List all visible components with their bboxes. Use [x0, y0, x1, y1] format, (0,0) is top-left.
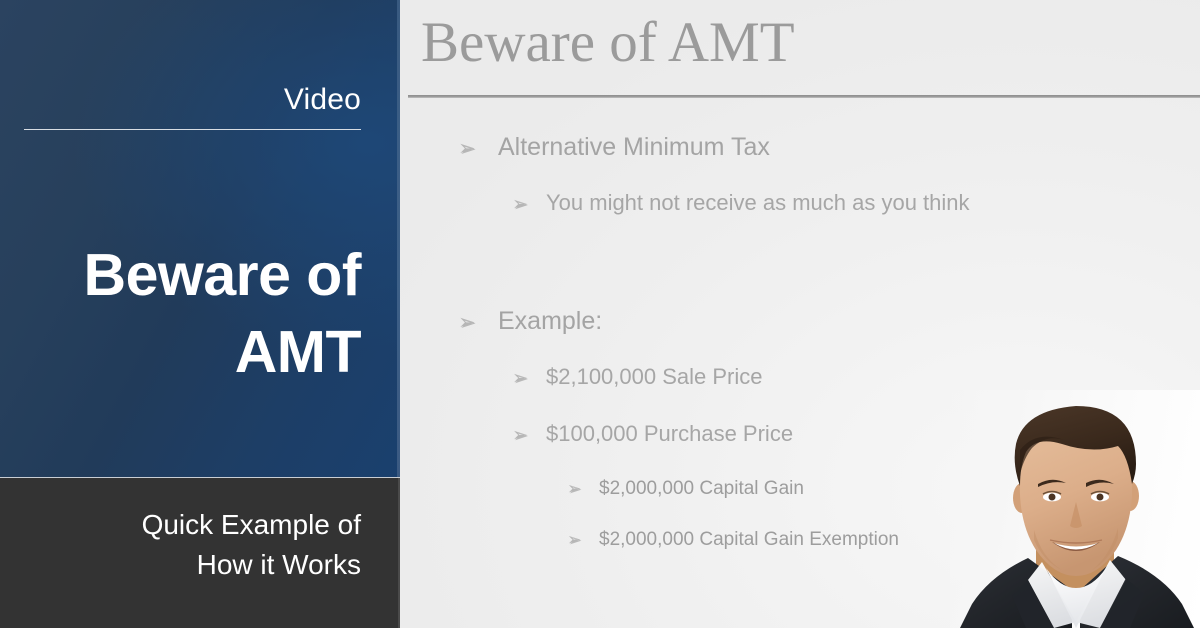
arrow-bullet-icon: ➢: [458, 310, 498, 335]
slide-heading-rule: [408, 95, 1200, 98]
pupil-left: [1049, 494, 1056, 501]
page-subtitle-line-1: Quick Example of: [31, 505, 361, 545]
bullet-item: ➢ Alternative Minimum Tax: [400, 133, 1200, 190]
eyebrow-divider: [24, 129, 361, 130]
arrow-bullet-icon: ➢: [512, 193, 546, 216]
bullet-text: Example:: [498, 307, 602, 336]
page-title: Beware of AMT: [31, 237, 361, 390]
bullet-group-spacer: [400, 247, 1200, 307]
arrow-bullet-icon: ➢: [567, 530, 599, 550]
bullet-text: Alternative Minimum Tax: [498, 133, 770, 162]
arrow-bullet-icon: ➢: [458, 136, 498, 161]
bullet-item: ➢ Example:: [400, 307, 1200, 364]
bullet-item: ➢ You might not receive as much as you t…: [400, 190, 1200, 247]
arrow-bullet-icon: ➢: [567, 479, 599, 499]
bullet-text: $2,100,000 Sale Price: [546, 364, 763, 390]
left-title-panel: Video Beware of AMT Quick Example of How…: [0, 0, 400, 628]
arrow-bullet-icon: ➢: [512, 367, 546, 390]
presenter-photo: [950, 390, 1200, 628]
page-title-line-1: Beware of: [31, 237, 361, 314]
bullet-text: $2,000,000 Capital Gain Exemption: [599, 529, 899, 551]
pupil-right: [1097, 494, 1104, 501]
bullet-text: $2,000,000 Capital Gain: [599, 478, 804, 500]
bullet-text: You might not receive as much as you thi…: [546, 190, 970, 216]
page-subtitle: Quick Example of How it Works: [31, 505, 361, 586]
page-title-line-2: AMT: [31, 314, 361, 391]
page-subtitle-line-2: How it Works: [31, 545, 361, 585]
slide-heading: Beware of AMT: [421, 14, 795, 71]
presenter-portrait-illustration: [950, 390, 1200, 628]
video-thumbnail-screen: Video Beware of AMT Quick Example of How…: [0, 0, 1200, 628]
video-eyebrow-label: Video: [284, 85, 361, 115]
bullet-text: $100,000 Purchase Price: [546, 421, 793, 447]
presentation-slide: Beware of AMT ➢ Alternative Minimum Tax …: [400, 0, 1200, 628]
arrow-bullet-icon: ➢: [512, 424, 546, 447]
